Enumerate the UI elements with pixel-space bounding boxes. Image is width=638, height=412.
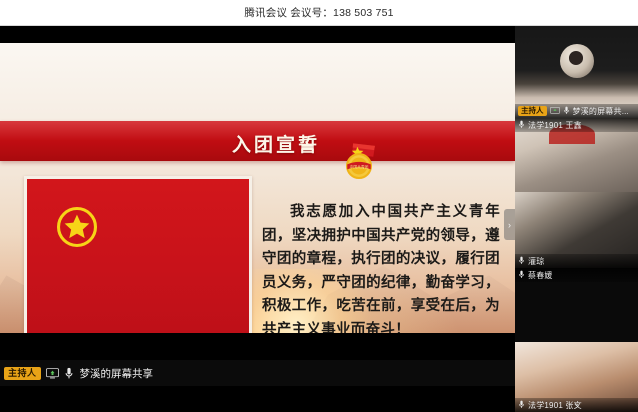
meeting-id-text: 腾讯会议 会议号：138 503 751 <box>244 5 393 20</box>
presenter-name: 梦溪的屏幕共享 <box>80 366 154 381</box>
tile-label-bar: 灌琼 <box>515 254 638 268</box>
participant-name: 法学1901 王鑫 <box>528 120 582 131</box>
chevron-down-icon[interactable]: ⌄ <box>573 398 581 409</box>
presentation-slide: 入团宣誓 中国共青团 <box>0 43 515 333</box>
screen-share-icon <box>46 368 59 379</box>
tile-label-bar: 主持人 梦溪的屏幕共... <box>515 104 638 118</box>
cyl-flag-image <box>24 176 252 333</box>
mic-icon <box>518 252 525 268</box>
presenter-status-bar: 主持人 梦溪的屏幕共享 <box>0 360 515 386</box>
video-tile[interactable]: 蔡春媛 <box>515 268 638 342</box>
mic-icon <box>64 367 74 380</box>
participant-name: 蔡春媛 <box>528 270 553 281</box>
oath-text: 我志愿加入中国共产主义青年团，坚决拥护中国共产党的领导，遵守团的章程，执行团的决… <box>262 201 500 333</box>
flag-star-emblem <box>55 205 99 249</box>
mic-icon <box>518 118 525 134</box>
communist-youth-league-emblem: 中国共青团 <box>338 140 380 182</box>
avatar <box>560 44 594 78</box>
collapse-panel-chevron-icon[interactable]: › <box>504 209 515 240</box>
flag-field <box>27 179 249 333</box>
slide-title: 入团宣誓 <box>232 130 320 157</box>
host-badge: 主持人 <box>4 367 41 380</box>
tencent-meeting-window: 腾讯会议 会议号：138 503 751 入团宣誓 <box>0 0 638 412</box>
video-tile[interactable]: 主持人 梦溪的屏幕共... <box>515 26 638 118</box>
participant-name: 灌琼 <box>528 256 544 267</box>
host-badge: 主持人 <box>518 106 547 117</box>
participant-name: 梦溪的屏幕共... <box>573 106 629 117</box>
tile-label-bar: 法学1901 王鑫 <box>515 118 638 132</box>
meeting-topbar: 腾讯会议 会议号：138 503 751 <box>0 0 638 26</box>
svg-text:中国共青团: 中国共青团 <box>350 165 369 170</box>
shared-screen-stage[interactable]: 入团宣誓 中国共青团 <box>0 26 515 386</box>
video-tile[interactable]: 法学1901 王鑫 <box>515 118 638 192</box>
participant-video-rail[interactable]: 主持人 梦溪的屏幕共... <box>515 26 638 412</box>
screen-share-icon <box>550 102 560 118</box>
video-tile[interactable]: 灌琼 <box>515 192 638 268</box>
tile-label-bar: 蔡春媛 <box>515 268 638 282</box>
mic-icon <box>563 102 570 118</box>
mic-icon <box>518 268 525 284</box>
video-tile[interactable]: 法学1901 张文 ⌄ <box>515 342 638 412</box>
mic-icon <box>518 396 525 412</box>
